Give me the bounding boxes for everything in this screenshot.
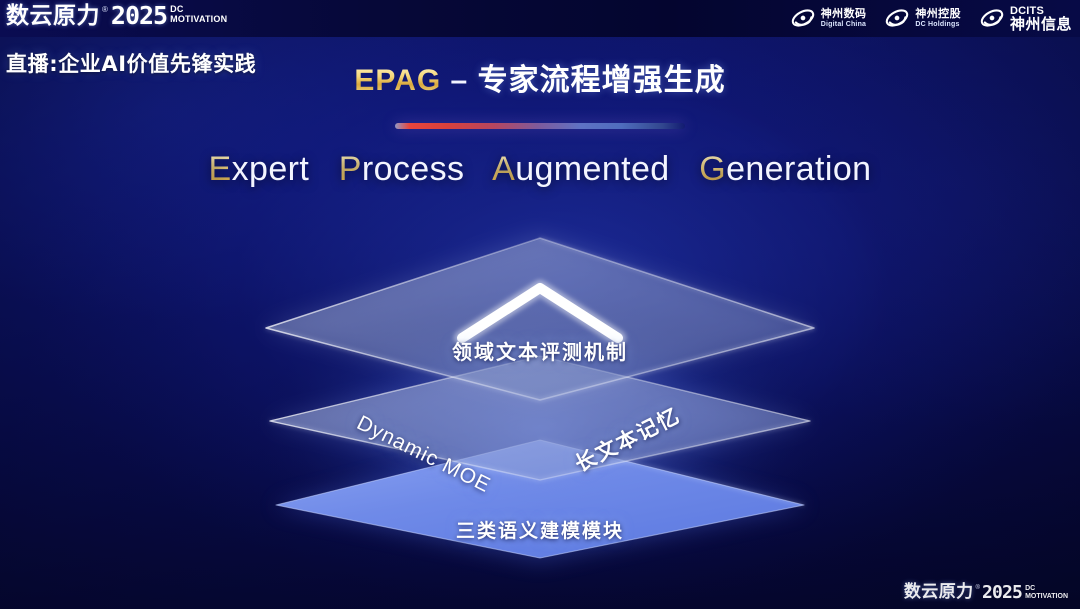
partner-name-en: DC Holdings — [915, 21, 961, 28]
brand-dc-line1: DC — [170, 5, 227, 14]
layer-stack-diagram: 领域文本评测机制 Dynamic MOE 长文本记忆 三类语义建模模块 — [248, 232, 832, 562]
brand-dc-line2: MOTIVATION — [170, 15, 227, 24]
brand-name-cn: 数云原力 — [6, 2, 100, 30]
layer-label-top: 领域文本评测机制 — [248, 336, 832, 365]
title-acronym: EPAG — [354, 64, 441, 97]
swoosh-icon — [979, 5, 1005, 31]
brand-dc-motivation: DC MOTIVATION — [170, 5, 227, 24]
subtitle-space — [474, 150, 484, 188]
brand-year: 2025 — [111, 2, 167, 30]
title-divider — [395, 123, 685, 129]
live-headline: 直播:企业AI价值先锋实践 — [6, 48, 256, 78]
slide-subtitle: Expert Process Augmented Generation — [0, 150, 1080, 189]
slide-canvas: 数云原力 ® 2025 DC MOTIVATION 直播:企业AI价值先锋实践 … — [0, 0, 1080, 609]
partner-name-en: Digital China — [821, 21, 867, 28]
layer-label-bottom: 三类语义建模模块 — [248, 516, 832, 543]
title-name-cn: 专家流程增强生成 — [478, 63, 726, 98]
partner-name-cn: 神州数码 — [821, 8, 867, 19]
subtitle-space — [679, 150, 689, 188]
subtitle-cap: A — [492, 150, 515, 188]
subtitle-cap: G — [699, 150, 726, 188]
watermark-registered-mark: ® — [976, 584, 980, 593]
swoosh-icon — [790, 5, 816, 31]
subtitle-cap: E — [209, 150, 232, 188]
partner-name-cn: 神州信息 — [1010, 17, 1072, 32]
subtitle-rest: rocess — [362, 150, 465, 188]
title-dash: – — [451, 64, 469, 97]
partner-name-cn: 神州控股 — [915, 8, 961, 19]
subtitle-rest: xpert — [232, 150, 310, 188]
subtitle-word-process: Process — [339, 150, 465, 188]
partner-logo-group: 神州数码 Digital China 神州控股 DC Holdings — [790, 4, 1072, 32]
swoosh-icon — [884, 5, 910, 31]
subtitle-rest: eneration — [726, 150, 871, 188]
layer-stack-svg — [248, 232, 832, 562]
watermark-dc-line1: DC — [1025, 585, 1068, 592]
subtitle-word-expert: Expert — [209, 150, 310, 188]
subtitle-rest: ugmented — [515, 150, 669, 188]
registered-mark: ® — [102, 4, 108, 16]
subtitle-cap: P — [339, 150, 362, 188]
watermark-name-cn: 数云原力 — [904, 582, 974, 603]
watermark-year: 2025 — [982, 582, 1022, 603]
subtitle-word-generation: Generation — [699, 150, 871, 188]
subtitle-space — [319, 150, 329, 188]
subtitle-word-augmented: Augmented — [492, 150, 670, 188]
watermark-dc-motivation: DC MOTIVATION — [1025, 585, 1068, 600]
partner-logo-dcits: DCITS 神州信息 — [979, 4, 1072, 32]
brand-logo: 数云原力 ® 2025 DC MOTIVATION — [6, 2, 227, 30]
watermark-dc-line2: MOTIVATION — [1025, 593, 1068, 600]
partner-logo-digital-china: 神州数码 Digital China — [790, 5, 867, 31]
watermark-logo: 数云原力 ® 2025 DC MOTIVATION — [904, 582, 1068, 603]
partner-logo-dc-holdings: 神州控股 DC Holdings — [884, 5, 961, 31]
